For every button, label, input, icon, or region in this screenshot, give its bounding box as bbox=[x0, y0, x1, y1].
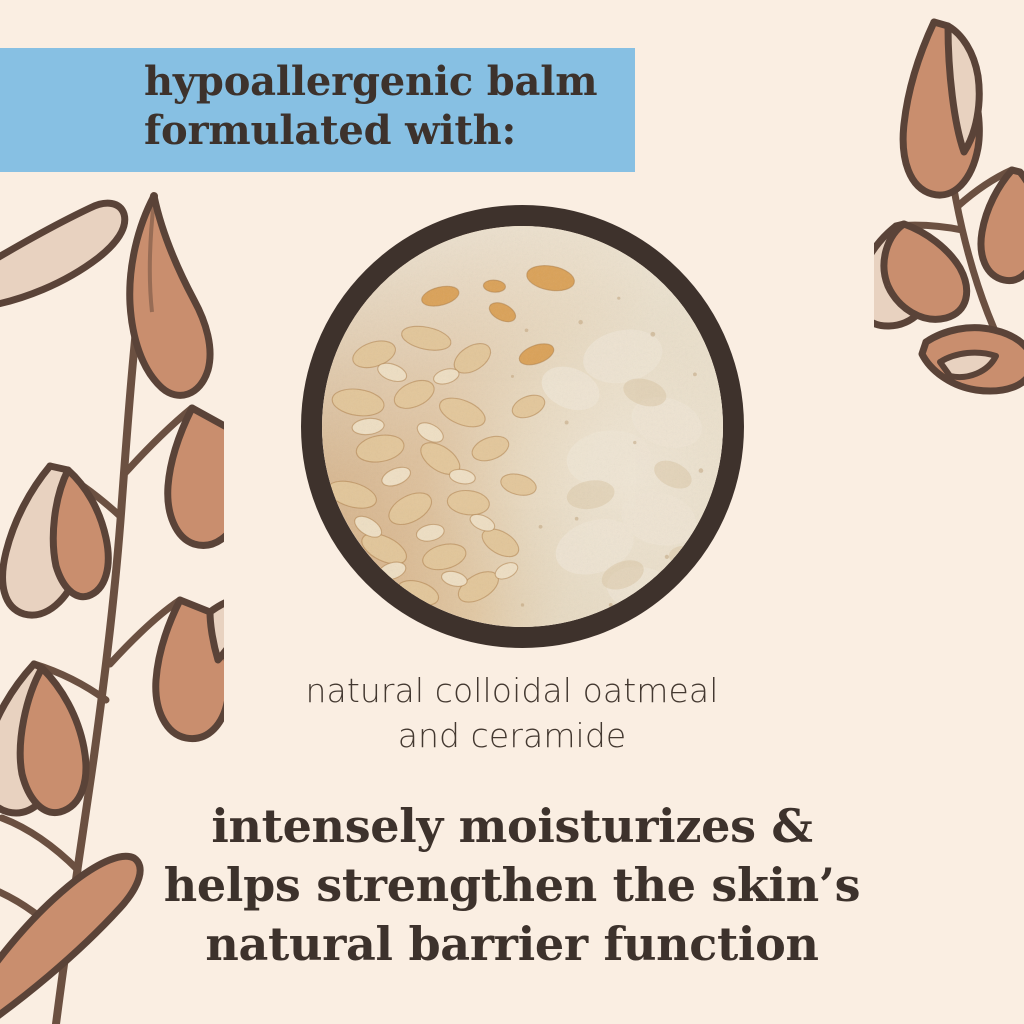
oat-bud-top-right bbox=[903, 22, 979, 195]
header-line-2: formulated with: bbox=[144, 106, 635, 155]
poster-canvas: hypoallergenic balm formulated with: bbox=[0, 0, 1024, 1024]
oat-cluster-right-sprig bbox=[874, 224, 967, 326]
oatmeal-photo bbox=[322, 226, 723, 627]
headline-line-3: natural barrier function bbox=[0, 915, 1024, 974]
oat-leaf-bottom-right bbox=[922, 328, 1024, 391]
ingredient-photo-circle bbox=[301, 205, 744, 648]
ingredient-caption: natural colloidal oatmeal and ceramide bbox=[0, 668, 1024, 758]
caption-line-1: natural colloidal oatmeal bbox=[0, 668, 1024, 713]
oat-bud-top bbox=[130, 196, 210, 395]
oat-bud-side-right bbox=[981, 170, 1024, 281]
benefit-headline: intensely moisturizes & helps strengthen… bbox=[0, 797, 1024, 974]
headline-line-2: helps strengthen the skin’s bbox=[0, 856, 1024, 915]
oat-sprig-right-decoration bbox=[874, 0, 1024, 435]
header-banner: hypoallergenic balm formulated with: bbox=[0, 48, 635, 172]
header-line-1: hypoallergenic balm bbox=[144, 57, 635, 106]
oat-cluster-mid-left bbox=[3, 466, 109, 615]
oat-leaf-blade bbox=[0, 203, 125, 306]
caption-line-2: and ceramide bbox=[0, 713, 1024, 758]
oat-bud-upper-right bbox=[168, 408, 224, 545]
headline-line-1: intensely moisturizes & bbox=[0, 797, 1024, 856]
